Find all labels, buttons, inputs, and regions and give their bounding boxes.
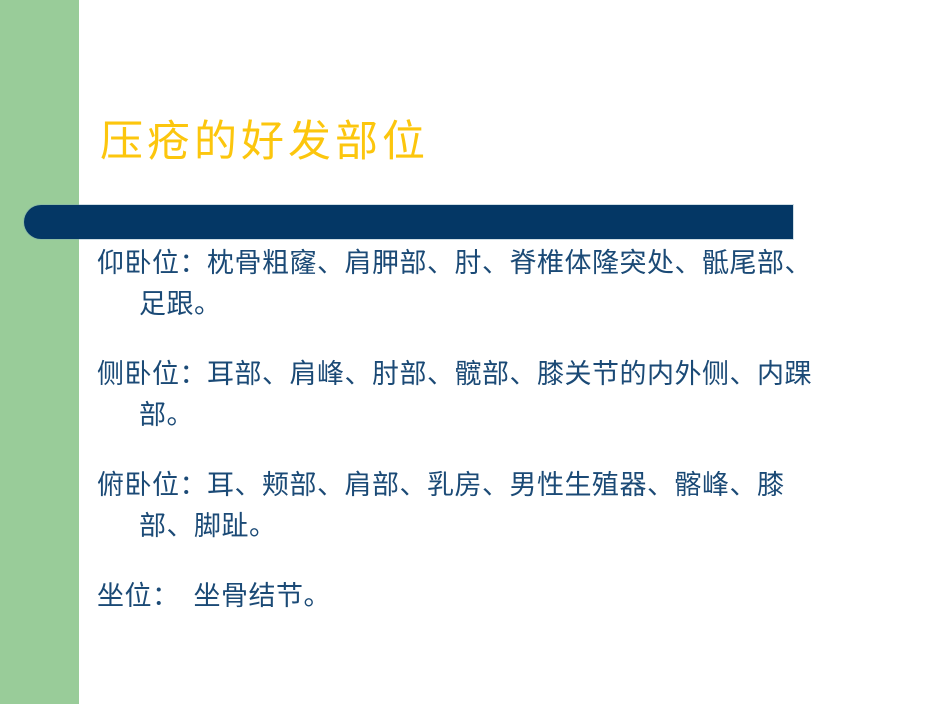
- slide-canvas: 压疮的好发部位 仰卧位：枕骨粗窿、肩胛部、肘、脊椎体隆突处、骶尾部、足跟。 侧卧…: [0, 0, 950, 713]
- body-paragraph-sitting: 坐位： 坐骨结节。: [97, 576, 817, 617]
- body-paragraph-prone: 俯卧位：耳、颊部、肩部、乳房、男性生殖器、髂峰、膝部、脚趾。: [97, 465, 817, 547]
- left-green-decor-panel: [0, 0, 79, 704]
- body-content: 仰卧位：枕骨粗窿、肩胛部、肘、脊椎体隆突处、骶尾部、足跟。 侧卧位：耳部、肩峰、…: [97, 243, 817, 617]
- body-paragraph-supine: 仰卧位：枕骨粗窿、肩胛部、肘、脊椎体隆突处、骶尾部、足跟。: [97, 243, 817, 325]
- body-paragraph-lateral: 侧卧位：耳部、肩峰、肘部、髋部、膝关节的内外侧、内踝部。: [97, 354, 817, 436]
- title-accent-bar: [24, 205, 793, 239]
- page-title: 压疮的好发部位: [100, 118, 800, 168]
